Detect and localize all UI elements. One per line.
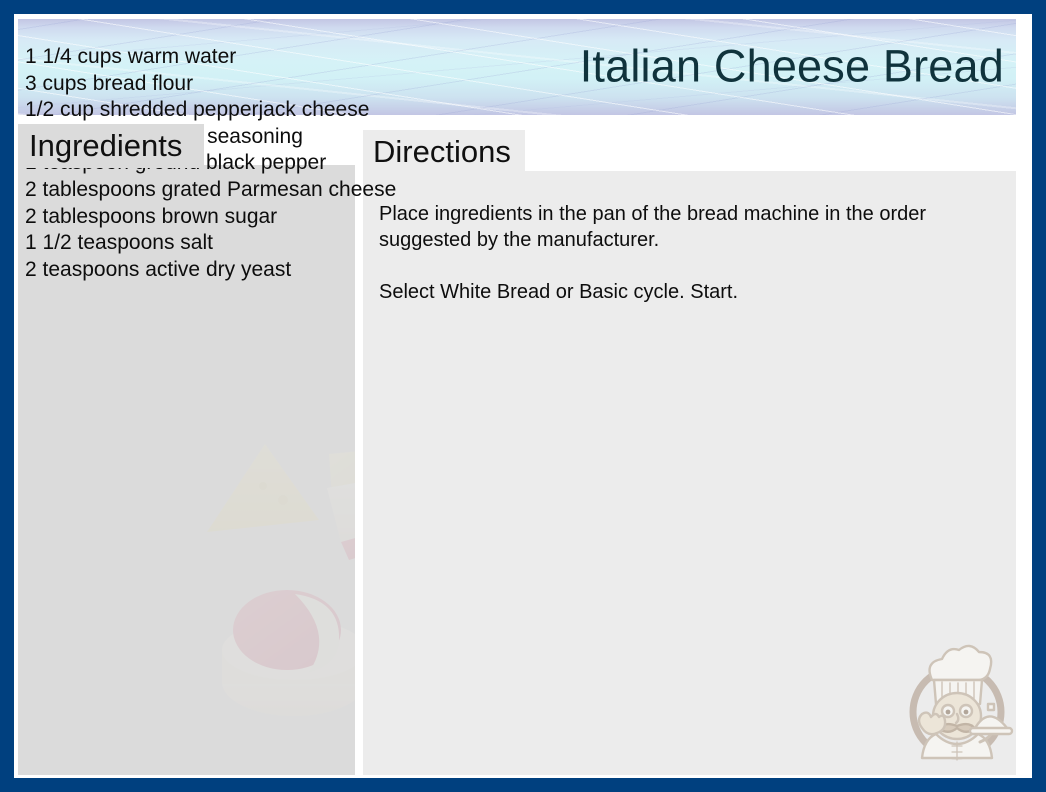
list-item: 1/2 cup shredded pepperjack cheese bbox=[25, 97, 1028, 124]
ingredients-heading: Ingredients bbox=[29, 128, 182, 164]
list-item: 3 cups bread flour bbox=[25, 71, 1028, 98]
list-item: 1 1/2 teaspoons salt bbox=[25, 230, 1028, 257]
directions-heading-tab: Directions bbox=[363, 130, 525, 174]
list-item: 2 tablespoons brown sugar bbox=[25, 204, 1028, 231]
ingredients-heading-tab: Ingredients bbox=[18, 124, 204, 168]
list-item: 1 1/4 cups warm water bbox=[25, 44, 1028, 71]
recipe-slide: Italian Cheese Bread bbox=[0, 0, 1046, 792]
list-item: 2 tablespoons grated Parmesan cheese bbox=[25, 177, 1028, 204]
directions-heading: Directions bbox=[373, 134, 511, 170]
list-item: 2 teaspoons active dry yeast bbox=[25, 257, 1028, 284]
